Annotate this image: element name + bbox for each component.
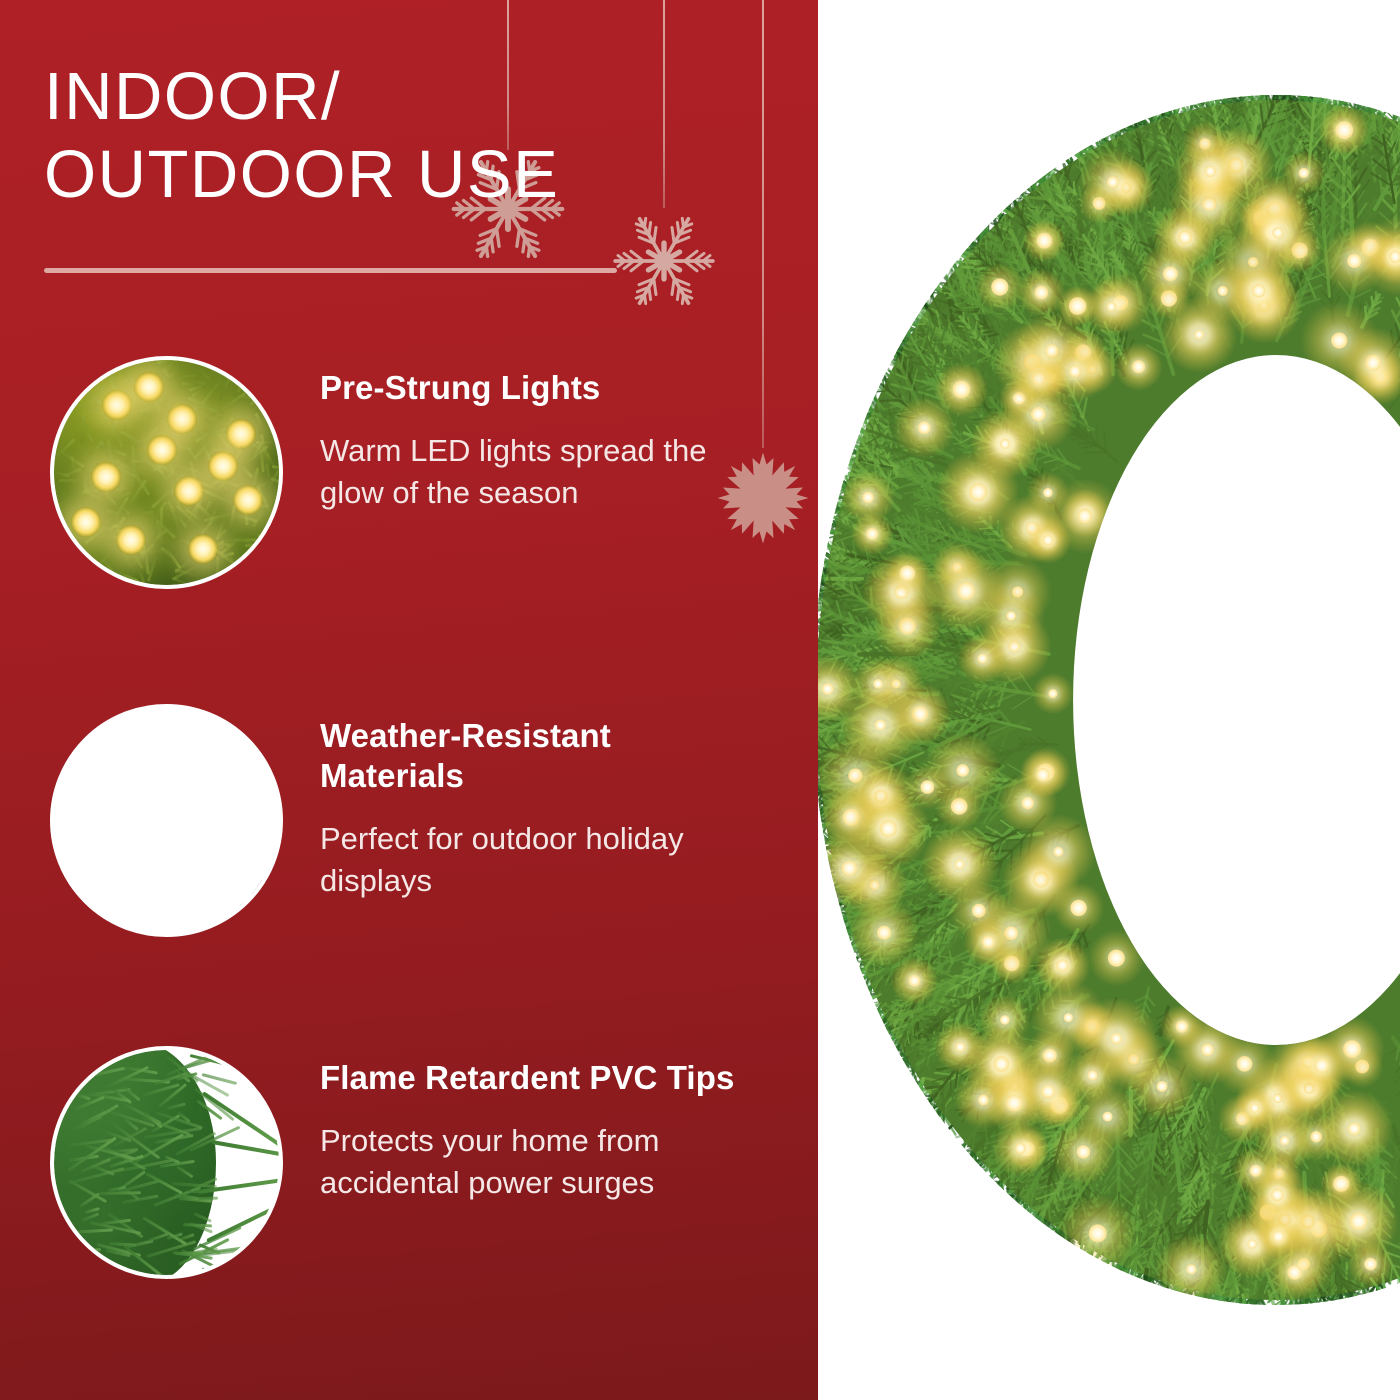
thumb-prestrung-lights xyxy=(50,356,283,589)
feature-text: Pre-Strung Lights Warm LED lights spread… xyxy=(320,356,780,514)
title-line-1: INDOOR/ xyxy=(44,58,764,136)
thumb-image-branches xyxy=(54,1050,279,1275)
thumb-weather-resistant xyxy=(50,704,283,937)
led-bulb xyxy=(102,390,132,420)
led-bulb xyxy=(174,476,204,506)
plug-backdrop xyxy=(54,708,279,933)
feature-description: Protects your home from accidental power… xyxy=(320,1120,740,1204)
led-bulb xyxy=(91,462,121,492)
product-image-area xyxy=(818,0,1400,1400)
led-bulb xyxy=(134,372,164,402)
page-title: INDOOR/ OUTDOOR USE xyxy=(44,58,764,214)
lit-christmas-wreath xyxy=(818,55,1400,1345)
thumb-image-plug xyxy=(54,708,279,933)
led-bulb xyxy=(116,525,146,555)
feature-row: Weather-Resistant Materials Perfect for … xyxy=(50,704,780,937)
feature-description: Warm LED lights spread the glow of the s… xyxy=(320,430,740,514)
feature-text: Weather-Resistant Materials Perfect for … xyxy=(320,704,780,902)
feature-description: Perfect for outdoor holiday displays xyxy=(320,818,740,902)
pine-needles xyxy=(54,360,279,585)
led-bulb xyxy=(233,485,263,515)
thumb-flame-retardent xyxy=(50,1046,283,1279)
led-bulb xyxy=(167,404,197,434)
led-bulb xyxy=(147,435,177,465)
thumb-image-lights xyxy=(54,360,279,585)
red-info-panel: INDOOR/ OUTDOOR USE Pre-Strung Lights Wa… xyxy=(0,0,818,1400)
led-bulb xyxy=(226,419,256,449)
led-bulb xyxy=(208,451,238,481)
title-line-2: OUTDOOR USE xyxy=(44,136,764,214)
infographic-canvas: INDOOR/ OUTDOOR USE Pre-Strung Lights Wa… xyxy=(0,0,1400,1400)
feature-text: Flame Retardent PVC Tips Protects your h… xyxy=(320,1046,780,1204)
led-bulb xyxy=(188,534,218,564)
feature-title: Weather-Resistant Materials xyxy=(320,716,740,796)
led-bulb xyxy=(71,507,101,537)
feature-title: Flame Retardent PVC Tips xyxy=(320,1058,740,1098)
feature-row: Pre-Strung Lights Warm LED lights spread… xyxy=(50,356,780,589)
feature-title: Pre-Strung Lights xyxy=(320,368,740,408)
feature-row: Flame Retardent PVC Tips Protects your h… xyxy=(50,1046,780,1279)
snowflake-icon xyxy=(611,208,717,314)
title-divider xyxy=(44,268,617,273)
